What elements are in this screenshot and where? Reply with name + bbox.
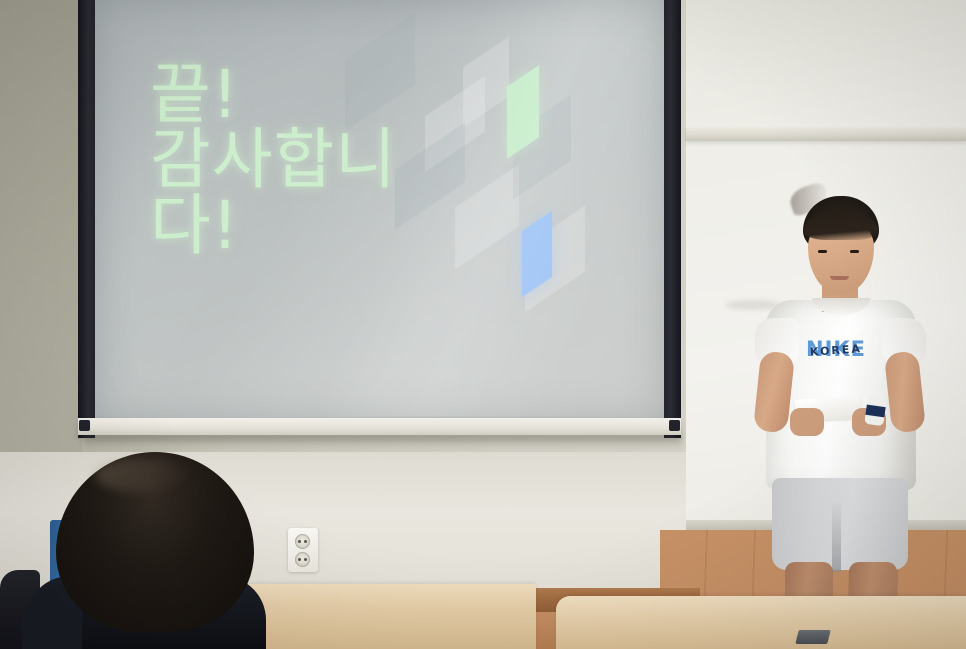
whiteboard-top-rail	[686, 128, 966, 141]
slide-line-3: 다!	[150, 193, 570, 258]
slide-text-block: 끝! 감사합니 다!	[150, 62, 570, 258]
desk-front-left	[236, 584, 536, 649]
presenter-hand-left	[790, 408, 824, 436]
classroom-photo: 끝! 감사합니 다! NIKE KOREA	[0, 0, 966, 649]
outlet-socket-top	[295, 534, 310, 549]
screen-end-cap-right	[669, 420, 680, 431]
screen-right-border	[664, 0, 681, 438]
shorts-seam	[832, 500, 841, 572]
screen-end-cap-left	[79, 420, 90, 431]
screen-bottom-bar	[78, 418, 681, 435]
side-wall-panel	[0, 0, 82, 465]
wall-outlet	[288, 528, 318, 572]
slide-line-2: 감사합니	[150, 127, 570, 192]
wristband	[864, 397, 887, 426]
screen-left-border	[78, 0, 95, 438]
slide-line-1: 끝!	[150, 62, 570, 127]
outlet-socket-bottom	[295, 552, 310, 567]
screen-drop-shadow	[84, 435, 682, 451]
presenter-eye-left	[818, 250, 827, 253]
desk-front-right	[556, 596, 966, 649]
presenter-mouth	[830, 276, 849, 280]
presenter-eye-right	[850, 250, 859, 253]
desk-clip	[795, 630, 830, 644]
shirt-logo: NIKE KOREA	[806, 335, 872, 361]
student-hair-highlight	[95, 458, 187, 492]
